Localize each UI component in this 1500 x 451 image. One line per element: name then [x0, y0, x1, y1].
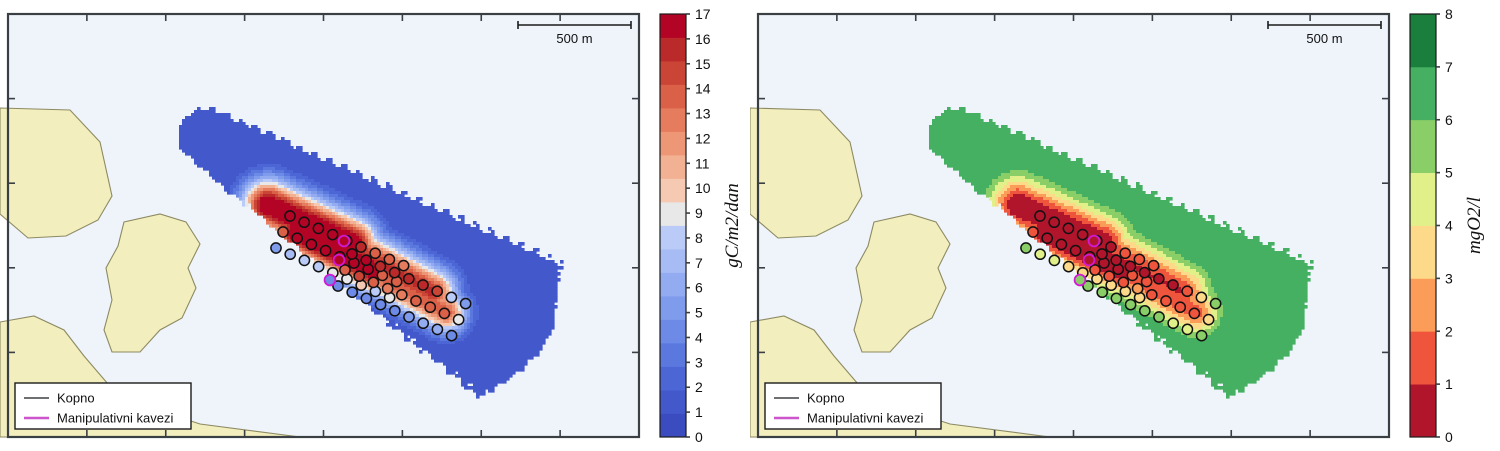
manipulative-cage-marker[interactable] [1084, 255, 1095, 266]
colorbar-band [660, 38, 686, 62]
cage-marker[interactable] [1182, 286, 1192, 296]
cage-marker[interactable] [425, 302, 435, 312]
cage-marker[interactable] [370, 248, 380, 258]
cage-marker[interactable] [404, 274, 414, 284]
cage-marker[interactable] [1140, 268, 1150, 278]
cage-marker[interactable] [418, 280, 428, 290]
legend-label: Kopno [807, 391, 845, 406]
colorbar-band [660, 179, 686, 203]
cage-marker[interactable] [390, 306, 400, 316]
colorbar-band [1410, 384, 1436, 437]
map-legend: Kopno Manipulativni kavezi [765, 383, 941, 429]
cage-marker[interactable] [328, 230, 338, 240]
cage-marker[interactable] [1056, 239, 1066, 249]
cage-marker[interactable] [1149, 261, 1159, 271]
cage-marker[interactable] [376, 300, 386, 310]
colorbar-band [660, 296, 686, 320]
cage-marker[interactable] [1175, 302, 1185, 312]
cage-marker[interactable] [397, 290, 407, 300]
colorbar-band [660, 108, 686, 132]
cage-marker[interactable] [411, 296, 421, 306]
manipulative-cage-marker[interactable] [334, 255, 345, 266]
cage-marker[interactable] [271, 243, 281, 253]
cage-marker[interactable] [347, 287, 357, 297]
figure-root: 500 m Kopno Manipulativni kavezi01234567… [0, 0, 1500, 451]
panel-right: 500 m Kopno Manipulativni kavezi01234567… [750, 0, 1500, 451]
colorbar-band [1410, 14, 1436, 67]
colorbar-title: mgO2/l [1464, 197, 1485, 254]
cage-marker[interactable] [368, 277, 378, 287]
cage-marker[interactable] [1118, 277, 1128, 287]
colorbar-band [1410, 331, 1436, 384]
cage-marker[interactable] [306, 239, 316, 249]
colorbar-tick-label: 8 [1445, 6, 1453, 22]
cage-marker[interactable] [1182, 324, 1192, 334]
cage-marker[interactable] [1028, 227, 1038, 237]
cage-marker[interactable] [1196, 292, 1206, 302]
colorbar-tick-label: 12 [695, 130, 711, 146]
colorbar-title: gC/m2/dan [722, 183, 743, 267]
colorbar-tick-label: 7 [695, 255, 703, 271]
cage-marker[interactable] [1049, 217, 1059, 227]
colorbar-tick-label: 13 [695, 106, 711, 122]
cage-marker[interactable] [439, 308, 449, 318]
colorbar-band [660, 202, 686, 226]
cage-marker[interactable] [399, 261, 409, 271]
cage-marker[interactable] [1120, 248, 1130, 258]
cage-marker[interactable] [1042, 233, 1052, 243]
colorbar-band [660, 390, 686, 414]
colorbar-band [660, 14, 686, 38]
cage-marker[interactable] [321, 246, 331, 256]
manipulative-cage-marker[interactable] [325, 275, 336, 286]
cage-marker[interactable] [1168, 280, 1178, 290]
colorbar-tick-label: 7 [1445, 59, 1453, 75]
map-right: 500 m Kopno Manipulativni kavezi01234567… [750, 0, 1500, 451]
colorbar-band [660, 85, 686, 109]
cage-marker[interactable] [1154, 274, 1164, 284]
colorbar-band [1410, 120, 1436, 173]
cage-marker[interactable] [1111, 293, 1121, 303]
colorbar-tick-label: 5 [695, 305, 703, 321]
scale-bar-label: 500 m [1306, 31, 1342, 46]
cage-marker[interactable] [1147, 290, 1157, 300]
colorbar-tick-label: 8 [695, 230, 703, 246]
colorbar-tick-label: 4 [1445, 218, 1453, 234]
legend-label: Manipulativni kavezi [807, 411, 923, 426]
cage-marker[interactable] [1125, 261, 1135, 271]
cage-marker[interactable] [375, 261, 385, 271]
colorbar-tick-label: 1 [695, 404, 703, 420]
cage-marker[interactable] [1189, 308, 1199, 318]
cage-marker[interactable] [292, 233, 302, 243]
colorbar-tick-label: 0 [695, 429, 703, 445]
colorbar-tick-label: 9 [695, 205, 703, 221]
colorbar-band [660, 132, 686, 156]
cage-marker[interactable] [354, 271, 364, 281]
colorbar-tick-label: 3 [695, 354, 703, 370]
colorbar-band [660, 414, 686, 438]
scale-bar-label: 500 m [556, 31, 592, 46]
cage-marker[interactable] [1204, 315, 1214, 325]
cage-marker[interactable] [404, 312, 414, 322]
cage-marker[interactable] [432, 286, 442, 296]
colorbar-band [660, 367, 686, 391]
cage-marker[interactable] [347, 249, 357, 259]
colorbar-band [1410, 173, 1436, 226]
cage-marker[interactable] [390, 268, 400, 278]
cage-marker[interactable] [1097, 287, 1107, 297]
colorbar-tick-label: 2 [695, 379, 703, 395]
colorbar-band [660, 155, 686, 179]
cage-marker[interactable] [454, 315, 464, 325]
map-left: 500 m Kopno Manipulativni kavezi01234567… [0, 0, 750, 451]
colorbar-tick-label: 14 [695, 81, 711, 97]
cage-marker[interactable] [384, 254, 394, 264]
cage-marker[interactable] [1021, 243, 1031, 253]
colorbar-tick-label: 5 [1445, 165, 1453, 181]
legend-label: Kopno [57, 391, 95, 406]
colorbar-band [660, 320, 686, 344]
cage-marker[interactable] [278, 227, 288, 237]
colorbar-tick-label: 10 [695, 180, 711, 196]
colorbar: 01234567891011121314151617gC/m2/dan [660, 6, 743, 445]
manipulative-cage-marker[interactable] [1075, 275, 1086, 286]
colorbar-band [660, 273, 686, 297]
cage-marker[interactable] [299, 255, 309, 265]
colorbar-tick-label: 11 [695, 155, 710, 171]
cage-marker[interactable] [1049, 255, 1059, 265]
cage-marker[interactable] [1197, 331, 1207, 341]
cage-marker[interactable] [1126, 300, 1136, 310]
cage-marker[interactable] [361, 255, 371, 265]
manipulative-cage-marker[interactable] [339, 236, 350, 247]
colorbar-tick-label: 6 [1445, 112, 1453, 128]
cage-marker[interactable] [1134, 254, 1144, 264]
cage-marker[interactable] [418, 318, 428, 328]
cage-marker[interactable] [285, 249, 295, 259]
cage-marker[interactable] [361, 293, 371, 303]
cage-marker[interactable] [285, 211, 295, 221]
cage-marker[interactable] [314, 262, 324, 272]
colorbar-band [660, 343, 686, 367]
cage-marker[interactable] [1035, 211, 1045, 221]
colorbar: 012345678mgO2/l [1410, 6, 1485, 445]
cage-marker[interactable] [1104, 271, 1114, 281]
cage-marker[interactable] [313, 223, 323, 233]
cage-marker[interactable] [1035, 249, 1045, 259]
colorbar-band [1410, 278, 1436, 331]
cage-marker[interactable] [461, 299, 471, 309]
colorbar-band [660, 61, 686, 85]
cage-marker[interactable] [447, 331, 457, 341]
colorbar-tick-label: 16 [695, 31, 711, 47]
colorbar-band [1410, 67, 1436, 120]
colorbar-tick-label: 1 [1445, 376, 1453, 392]
cage-marker[interactable] [1133, 284, 1143, 294]
cage-marker[interactable] [1097, 249, 1107, 259]
colorbar-tick-label: 17 [695, 6, 711, 22]
map-legend: Kopno Manipulativni kavezi [15, 383, 191, 429]
colorbar-band [1410, 226, 1436, 279]
colorbar-band [660, 226, 686, 250]
cage-marker[interactable] [446, 292, 456, 302]
colorbar-band [660, 249, 686, 273]
cage-marker[interactable] [1064, 262, 1074, 272]
cage-marker[interactable] [1161, 296, 1171, 306]
cage-marker[interactable] [1211, 299, 1221, 309]
cage-marker[interactable] [1063, 223, 1073, 233]
manipulative-cage-marker[interactable] [1089, 236, 1100, 247]
cage-marker[interactable] [432, 324, 442, 334]
legend-label: Manipulativni kavezi [57, 411, 173, 426]
cage-marker[interactable] [1168, 318, 1178, 328]
cage-marker[interactable] [1106, 242, 1116, 252]
cage-marker[interactable] [1140, 306, 1150, 316]
cage-marker[interactable] [1090, 265, 1100, 275]
cage-marker[interactable] [356, 242, 366, 252]
colorbar-tick-label: 6 [695, 280, 703, 296]
colorbar-tick-label: 3 [1445, 270, 1453, 286]
cage-marker[interactable] [1111, 255, 1121, 265]
cage-marker[interactable] [340, 265, 350, 275]
panel-left: 500 m Kopno Manipulativni kavezi01234567… [0, 0, 750, 451]
cage-marker[interactable] [383, 284, 393, 294]
colorbar-tick-label: 15 [695, 56, 711, 72]
cage-marker[interactable] [1071, 246, 1081, 256]
colorbar-tick-label: 4 [695, 329, 703, 345]
colorbar-tick-label: 2 [1445, 323, 1453, 339]
cage-marker[interactable] [299, 217, 309, 227]
colorbar-tick-label: 0 [1445, 429, 1453, 445]
cage-marker[interactable] [1154, 312, 1164, 322]
cage-marker[interactable] [1078, 230, 1088, 240]
